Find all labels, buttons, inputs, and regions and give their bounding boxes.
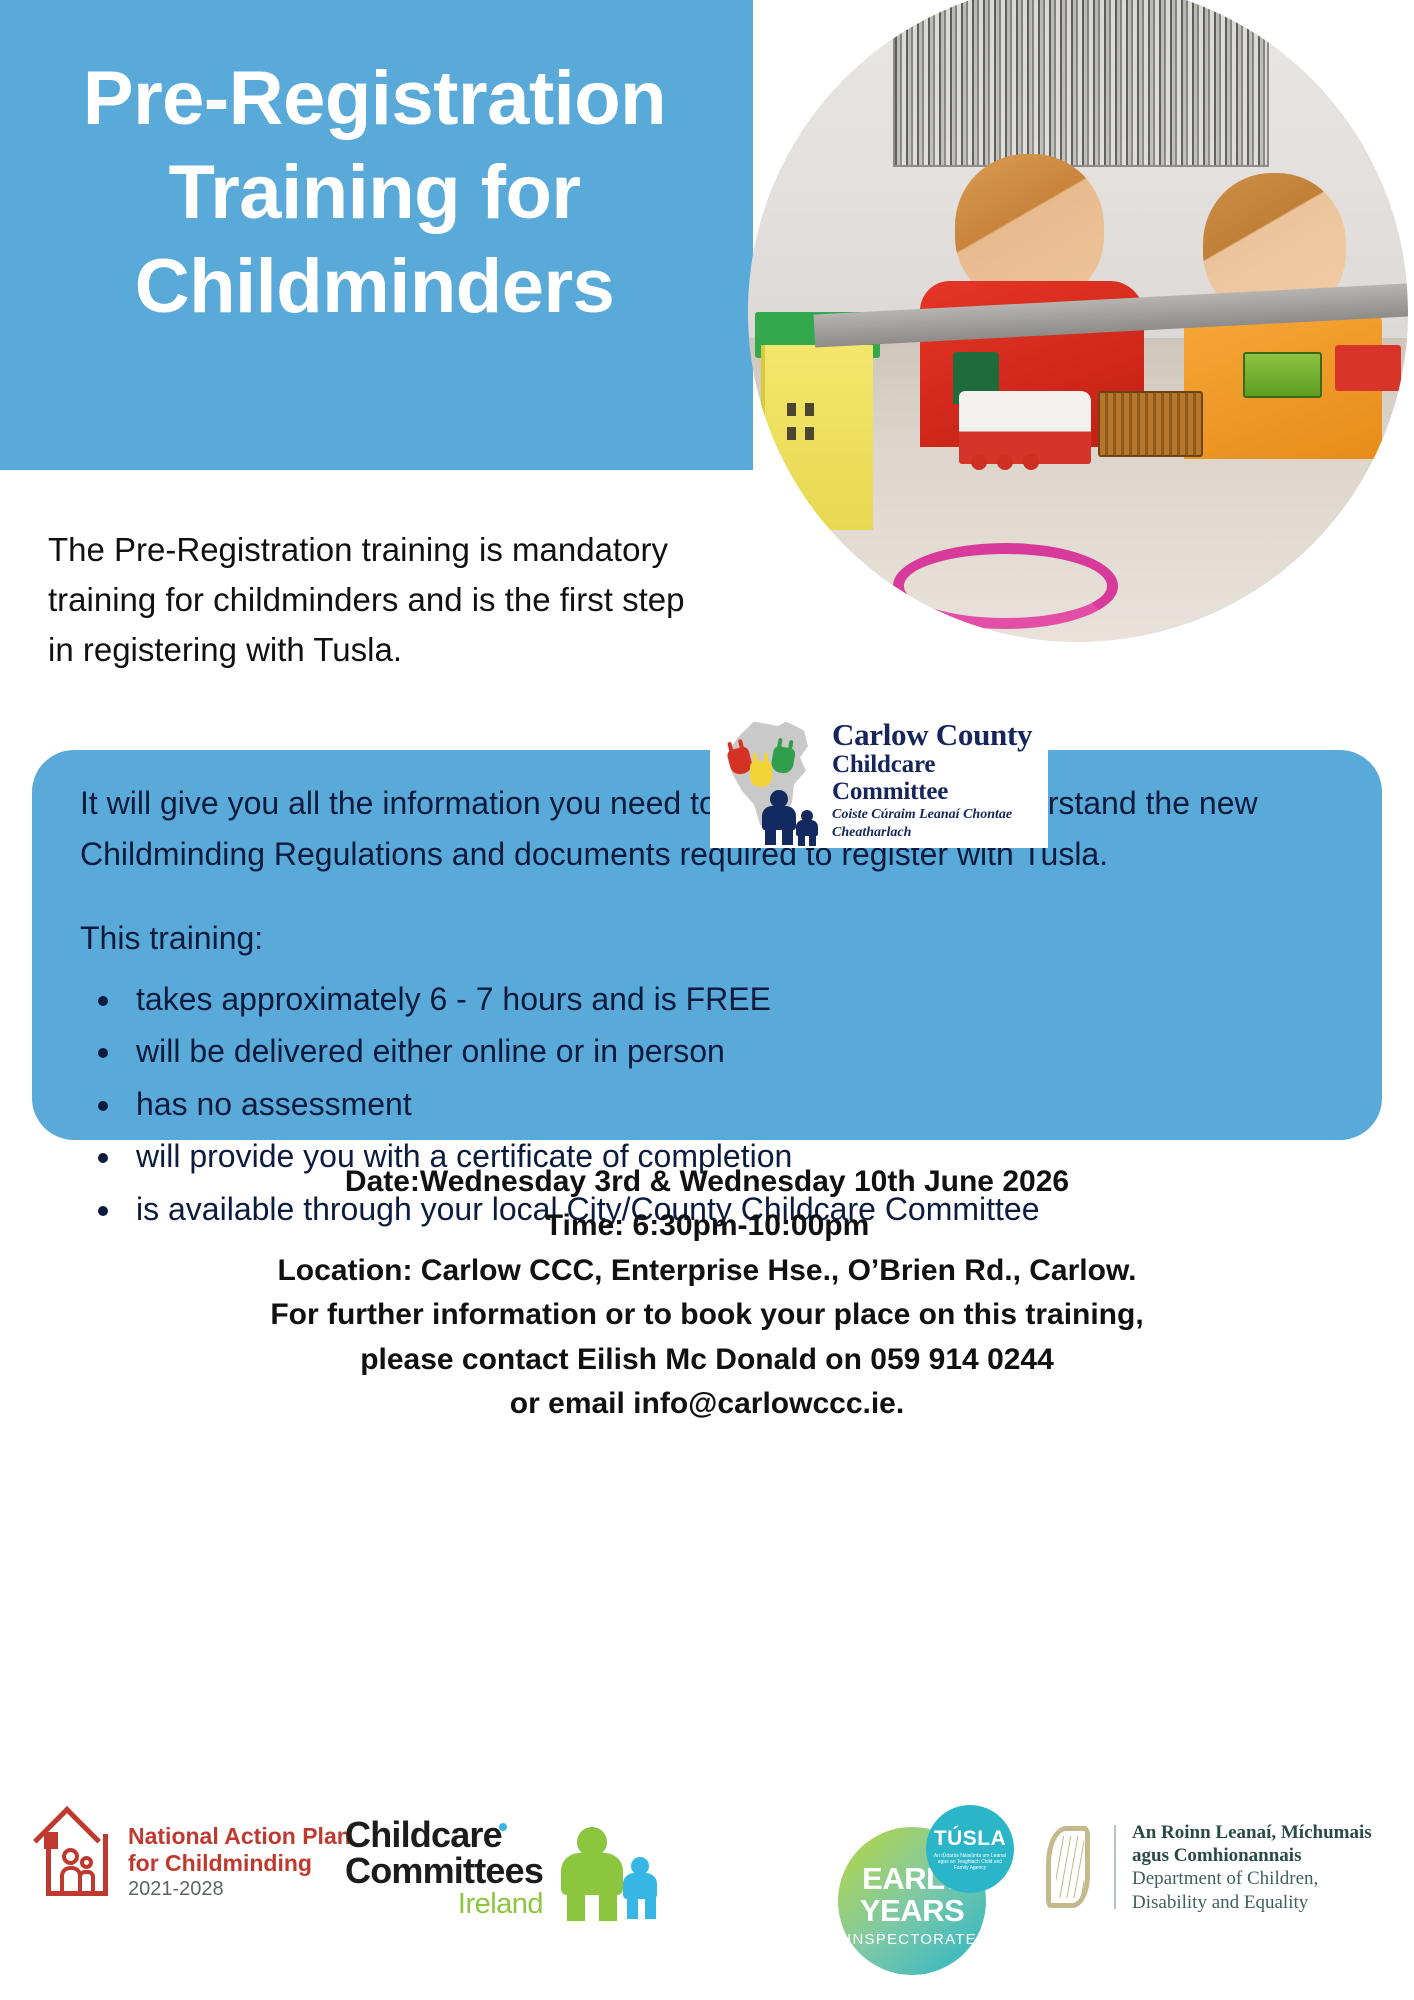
page-title: Pre-Registration Training for Childminde… <box>0 52 753 335</box>
poster-root: Pre-Registration Training for Childminde… <box>0 0 1414 2000</box>
handprint-yellow-icon <box>750 761 772 787</box>
house-with-family-icon <box>42 1824 114 1900</box>
department-of-children-logo: An Roinn Leanaí, Míchumais agus Comhiona… <box>1040 1821 1372 1914</box>
carlow-logo-line3-irish: Coiste Cúraim Leanaí Chontae Cheatharlac… <box>832 806 1048 842</box>
photo-pink-ring-toy <box>893 543 1117 629</box>
photo-toy-window <box>805 403 814 416</box>
child-figure-icon <box>796 810 818 844</box>
info-panel: It will give you all the information you… <box>32 750 1382 1140</box>
department-text: An Roinn Leanaí, Míchumais agus Comhiona… <box>1132 1821 1372 1914</box>
figure-leg <box>782 827 793 845</box>
photo-toy-house <box>761 345 873 530</box>
event-date: Date:Wednesday 3rd & Wednesday 10th June… <box>0 1160 1414 1204</box>
dept-line3-english: Department of Children, <box>1132 1867 1372 1890</box>
photo-wall-art <box>893 0 1269 167</box>
photo-toy-train <box>959 391 1091 464</box>
blue-dot-icon <box>499 1823 507 1831</box>
photo-toy-green-car <box>1243 352 1322 398</box>
booking-info-line: For further information or to book your … <box>0 1293 1414 1337</box>
harp-strings <box>1056 1836 1084 1898</box>
cci-line2: Committees <box>345 1853 543 1889</box>
list-item: has no assessment <box>124 1079 1320 1130</box>
child-body-shape <box>78 1870 95 1892</box>
list-item: takes approximately 6 - 7 hours and is F… <box>124 974 1320 1025</box>
national-action-plan-logo: National Action Plan for Childminding 20… <box>42 1823 351 1902</box>
photo-toy-red-car <box>1335 345 1401 391</box>
hero-photo-children-playing <box>748 0 1408 642</box>
nap-line2: for Childminding <box>128 1850 351 1877</box>
event-time: Time: 6:30pm-10:00pm <box>0 1204 1414 1248</box>
irish-harp-icon <box>1040 1824 1098 1910</box>
early-years-line2: YEARS <box>838 1895 986 1927</box>
national-action-plan-text: National Action Plan for Childminding 20… <box>114 1823 351 1902</box>
figure-leg <box>765 827 776 845</box>
photo-train-wheel <box>1023 454 1039 470</box>
footer-logo-strip: National Action Plan for Childminding 20… <box>0 1795 1414 1985</box>
cci-line1-text: Childcare <box>345 1814 502 1855</box>
figure-leg <box>798 834 805 846</box>
cci-line1: Childcare <box>345 1817 543 1853</box>
childcare-committees-ireland-logo: Childcare Committees Ireland <box>345 1817 661 1921</box>
event-details: Date:Wednesday 3rd & Wednesday 10th June… <box>0 1160 1414 1426</box>
tusla-badge-subtitle: An tÚdarás Náisiúnta um Leanaí agus an T… <box>926 1851 1014 1872</box>
child-leg-shape <box>645 1895 656 1919</box>
adult-figure-icon <box>762 790 796 842</box>
vertical-divider <box>1114 1825 1116 1909</box>
intro-paragraph: The Pre-Registration training is mandato… <box>48 525 688 675</box>
parent-and-child-icon <box>551 1825 661 1921</box>
info-panel-lead: It will give you all the information you… <box>80 778 1310 879</box>
photo-toy-wagon <box>1098 391 1204 457</box>
photo-train-wheel <box>997 454 1013 470</box>
photo-toy-window <box>805 427 814 440</box>
carlow-logo-text: Carlow County Childcare Committee Coiste… <box>828 719 1048 843</box>
cci-text: Childcare Committees Ireland <box>345 1817 543 1921</box>
nap-years: 2021-2028 <box>128 1877 351 1902</box>
info-panel-subhead: This training: <box>80 913 1320 964</box>
carlow-logo-line2: Childcare Committee <box>832 751 1048 806</box>
figure-head <box>770 790 788 808</box>
tusla-badge-icon: TÚSLA An tÚdarás Náisiúnta um Leanaí agu… <box>926 1805 1014 1893</box>
event-location: Location: Carlow CCC, Enterprise Hse., O… <box>0 1249 1414 1293</box>
dept-line1-irish: An Roinn Leanaí, Míchumais <box>1132 1821 1372 1844</box>
cci-line3: Ireland <box>345 1889 543 1921</box>
dept-line2-irish: agus Comhionannais <box>1132 1844 1372 1867</box>
carlow-logo-line1: Carlow County <box>832 719 1048 751</box>
contact-phone-line: please contact Eilish Mc Donald on 059 9… <box>0 1338 1414 1382</box>
photo-toy-window <box>787 427 796 440</box>
child-leg-shape <box>627 1895 638 1919</box>
tusla-badge-name: TÚSLA <box>934 1827 1007 1851</box>
carlow-county-childcare-committee-logo: Carlow County Childcare Committee Coiste… <box>710 713 1048 848</box>
carlow-county-map-icon <box>710 716 828 846</box>
dept-line4-english: Disability and Equality <box>1132 1891 1372 1914</box>
tusla-early-years-inspectorate-logo: EARLY YEARS INSPECTORATE TÚSLA An tÚdará… <box>838 1805 1018 1977</box>
nap-line1: National Action Plan <box>128 1823 351 1850</box>
photo-toy-window <box>787 403 796 416</box>
adult-leg-shape <box>599 1889 617 1921</box>
early-years-line3: INSPECTORATE <box>838 1926 986 1953</box>
figure-leg <box>809 834 816 846</box>
list-item: will be delivered either online or in pe… <box>124 1026 1320 1077</box>
photo-train-wheel <box>971 454 987 470</box>
contact-email-line: or email info@carlowccc.ie. <box>0 1382 1414 1426</box>
adult-leg-shape <box>567 1889 585 1921</box>
